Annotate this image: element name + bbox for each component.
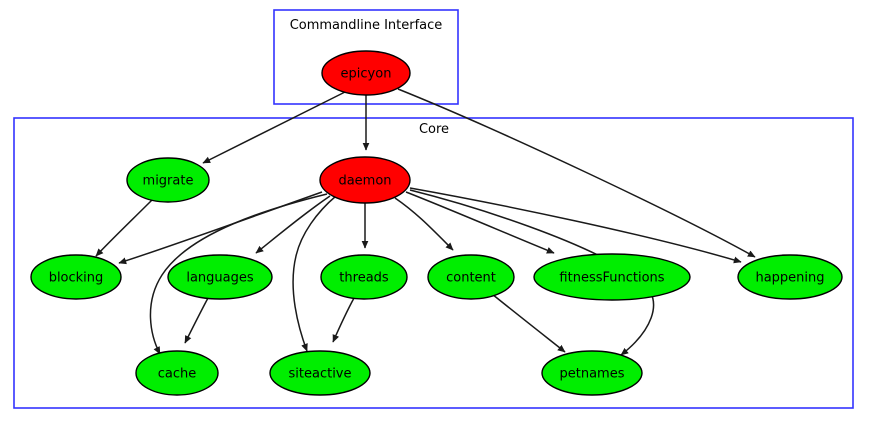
edge-epicyon-to-happening <box>398 89 755 257</box>
edge-daemon-to-content <box>395 198 453 250</box>
node-layer: epicyonmigratedaemonblockinglanguagesthr… <box>31 51 842 395</box>
graph-canvas: Commandline InterfaceCore epicyonmigrate… <box>0 0 869 424</box>
cluster-layer: Commandline InterfaceCore <box>14 10 853 408</box>
node-label-fitnessFunctions: fitnessFunctions <box>559 271 664 286</box>
edge-daemon-to-languages <box>256 196 330 253</box>
node-label-siteactive: siteactive <box>289 367 352 382</box>
node-daemon[interactable]: daemon <box>320 157 410 203</box>
node-label-migrate: migrate <box>143 174 194 189</box>
node-petnames[interactable]: petnames <box>542 351 642 395</box>
edge-migrate-to-blocking <box>96 200 152 256</box>
node-label-cache: cache <box>158 367 197 382</box>
node-label-daemon: daemon <box>338 174 391 189</box>
node-languages[interactable]: languages <box>168 255 272 299</box>
node-threads[interactable]: threads <box>321 255 407 299</box>
node-label-petnames: petnames <box>560 367 625 382</box>
node-label-epicyon: epicyon <box>341 67 392 82</box>
cluster-label-cli: Commandline Interface <box>290 18 443 33</box>
cluster-label-core: Core <box>419 122 449 137</box>
node-happening[interactable]: happening <box>738 255 842 299</box>
edge-daemon-to-happening <box>410 188 741 262</box>
node-content[interactable]: content <box>428 255 514 299</box>
dependency-graph: Commandline InterfaceCore epicyonmigrate… <box>0 0 869 424</box>
node-label-languages: languages <box>186 271 254 286</box>
node-label-blocking: blocking <box>49 271 104 286</box>
edge-threads-to-siteactive <box>333 298 354 342</box>
node-cache[interactable]: cache <box>136 351 218 395</box>
node-blocking[interactable]: blocking <box>31 255 121 299</box>
edge-content-to-petnames <box>492 294 565 352</box>
node-label-content: content <box>446 271 496 286</box>
node-fitnessFunctions[interactable]: fitnessFunctions <box>534 254 690 300</box>
node-label-happening: happening <box>755 271 824 286</box>
node-label-threads: threads <box>339 271 389 286</box>
node-siteactive[interactable]: siteactive <box>270 351 370 395</box>
node-epicyon[interactable]: epicyon <box>322 51 410 95</box>
edge-languages-to-cache <box>185 298 208 343</box>
node-migrate[interactable]: migrate <box>127 158 209 202</box>
